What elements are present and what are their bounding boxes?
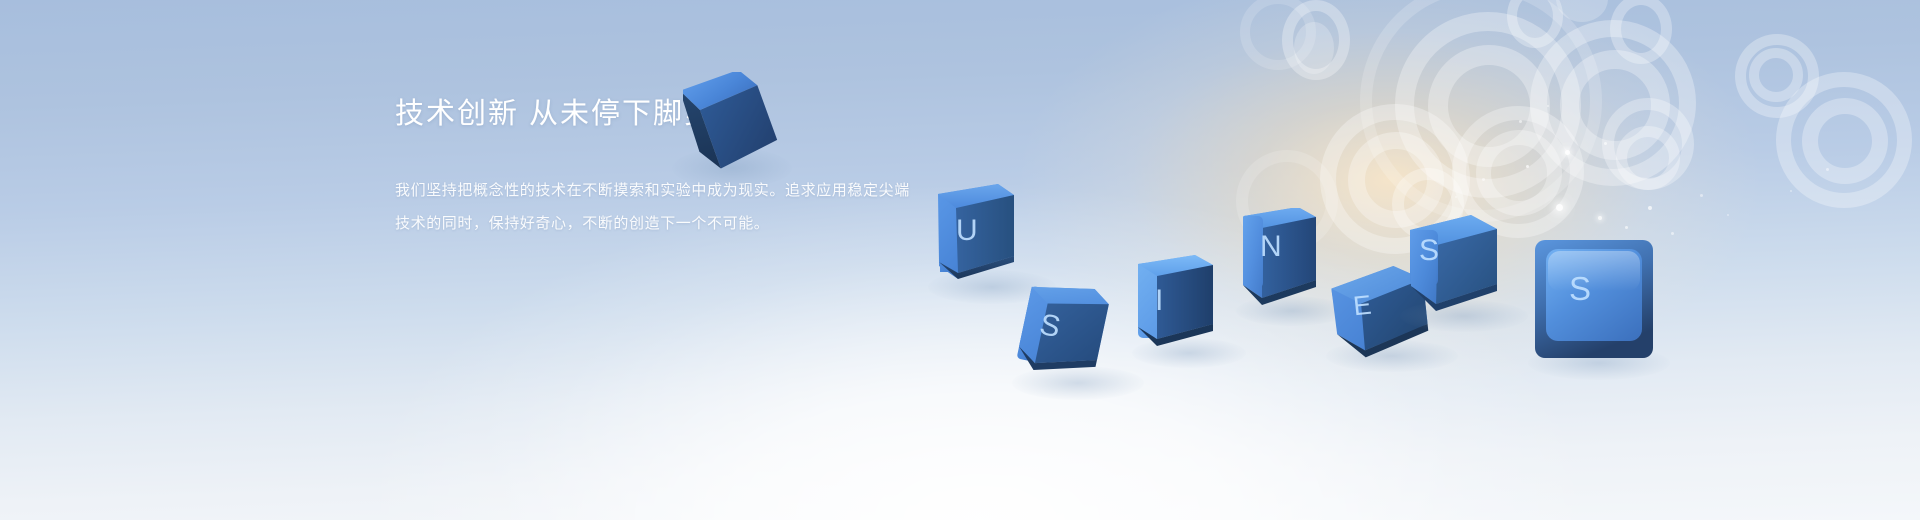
decor-ring — [1240, 0, 1316, 70]
sparkle — [1790, 190, 1792, 192]
keycap-letter: U — [956, 214, 978, 247]
keycap-letter: N — [1260, 230, 1282, 263]
keycap-shadow — [1326, 340, 1458, 372]
decor-ring — [1749, 48, 1803, 102]
decor-ring — [1616, 126, 1680, 190]
keycap-shadow — [1400, 300, 1528, 332]
decor-ring — [1395, 12, 1581, 198]
hero-banner: 技术创新 从未停下脚步 我们坚持把概念性的技术在不断摸索和实验中成为现实。追求应… — [0, 0, 1920, 520]
sparkle — [1826, 168, 1829, 171]
concentric-circles-decoration — [0, 0, 1920, 520]
decor-ring — [1360, 0, 1602, 222]
keycap-u: U — [934, 180, 1042, 288]
sparkle — [1727, 214, 1729, 216]
sparkle — [1556, 204, 1563, 211]
keycap-letter: S — [1569, 270, 1591, 307]
decor-ring — [1320, 104, 1470, 254]
keycap-shadow — [928, 270, 1056, 304]
keycap-s3: S — [1533, 238, 1659, 364]
decor-ring — [1236, 150, 1338, 252]
keycap-e: E — [1330, 262, 1442, 360]
keycap-letter: E — [1352, 290, 1373, 322]
keycap-letter: S — [1419, 234, 1439, 267]
page-title: 技术创新 从未停下脚步 — [395, 97, 915, 132]
keycap-n: N — [1240, 208, 1338, 314]
sparkle — [1598, 216, 1602, 220]
decor-ring — [1560, 50, 1670, 160]
keycap-shadow — [1236, 296, 1348, 326]
keycap-i: I — [1135, 250, 1233, 352]
subtitle-line-2: 技术的同时，保持好奇心，不断的创造下一个不可能。 — [395, 207, 915, 240]
decor-ring — [1282, 0, 1350, 80]
sparkle — [1526, 165, 1529, 168]
sparkle — [1565, 150, 1570, 155]
keycap-s1: S — [1015, 278, 1127, 388]
decor-ring — [1428, 45, 1550, 167]
sparkle-particles — [0, 0, 1920, 520]
sparkle — [1482, 178, 1485, 181]
keycap-shadow — [1132, 338, 1246, 368]
sparkle — [1648, 206, 1652, 210]
decor-ring — [1392, 168, 1464, 240]
sparkle — [1519, 120, 1522, 123]
decor-ring — [1802, 98, 1888, 184]
keycap-shadow — [1012, 366, 1144, 400]
decor-ring — [1602, 98, 1694, 190]
decor-ring — [1776, 72, 1912, 208]
keycap-s2: S — [1405, 212, 1513, 324]
sparkle — [1547, 105, 1549, 107]
decor-dot — [1294, 22, 1334, 74]
sparkle — [1604, 142, 1607, 145]
decor-ring — [1348, 132, 1444, 228]
decor-ring — [1610, 0, 1672, 64]
sparkle — [1671, 232, 1674, 235]
sparkle — [1625, 226, 1628, 229]
decor-ring — [1507, 0, 1563, 48]
decor-ring — [1476, 130, 1562, 216]
decor-ring — [1735, 34, 1819, 118]
decor-ring — [1530, 20, 1696, 186]
keycap-letter: I — [1155, 284, 1163, 317]
keycap-letter: S — [1037, 308, 1063, 344]
decor-dot — [1556, 0, 1608, 22]
hero-text-block: 技术创新 从未停下脚步 我们坚持把概念性的技术在不断摸索和实验中成为现实。追求应… — [395, 97, 915, 240]
sparkle — [1455, 196, 1457, 198]
hero-subtitle: 我们坚持把概念性的技术在不断摸索和实验中成为现实。追求应用稳定尖端 技术的同时，… — [395, 174, 915, 240]
decor-ring — [1452, 106, 1584, 238]
subtitle-line-1: 我们坚持把概念性的技术在不断摸索和实验中成为现实。追求应用稳定尖端 — [395, 174, 915, 207]
keycap-shadow — [1528, 346, 1670, 380]
sparkle — [1700, 194, 1703, 197]
